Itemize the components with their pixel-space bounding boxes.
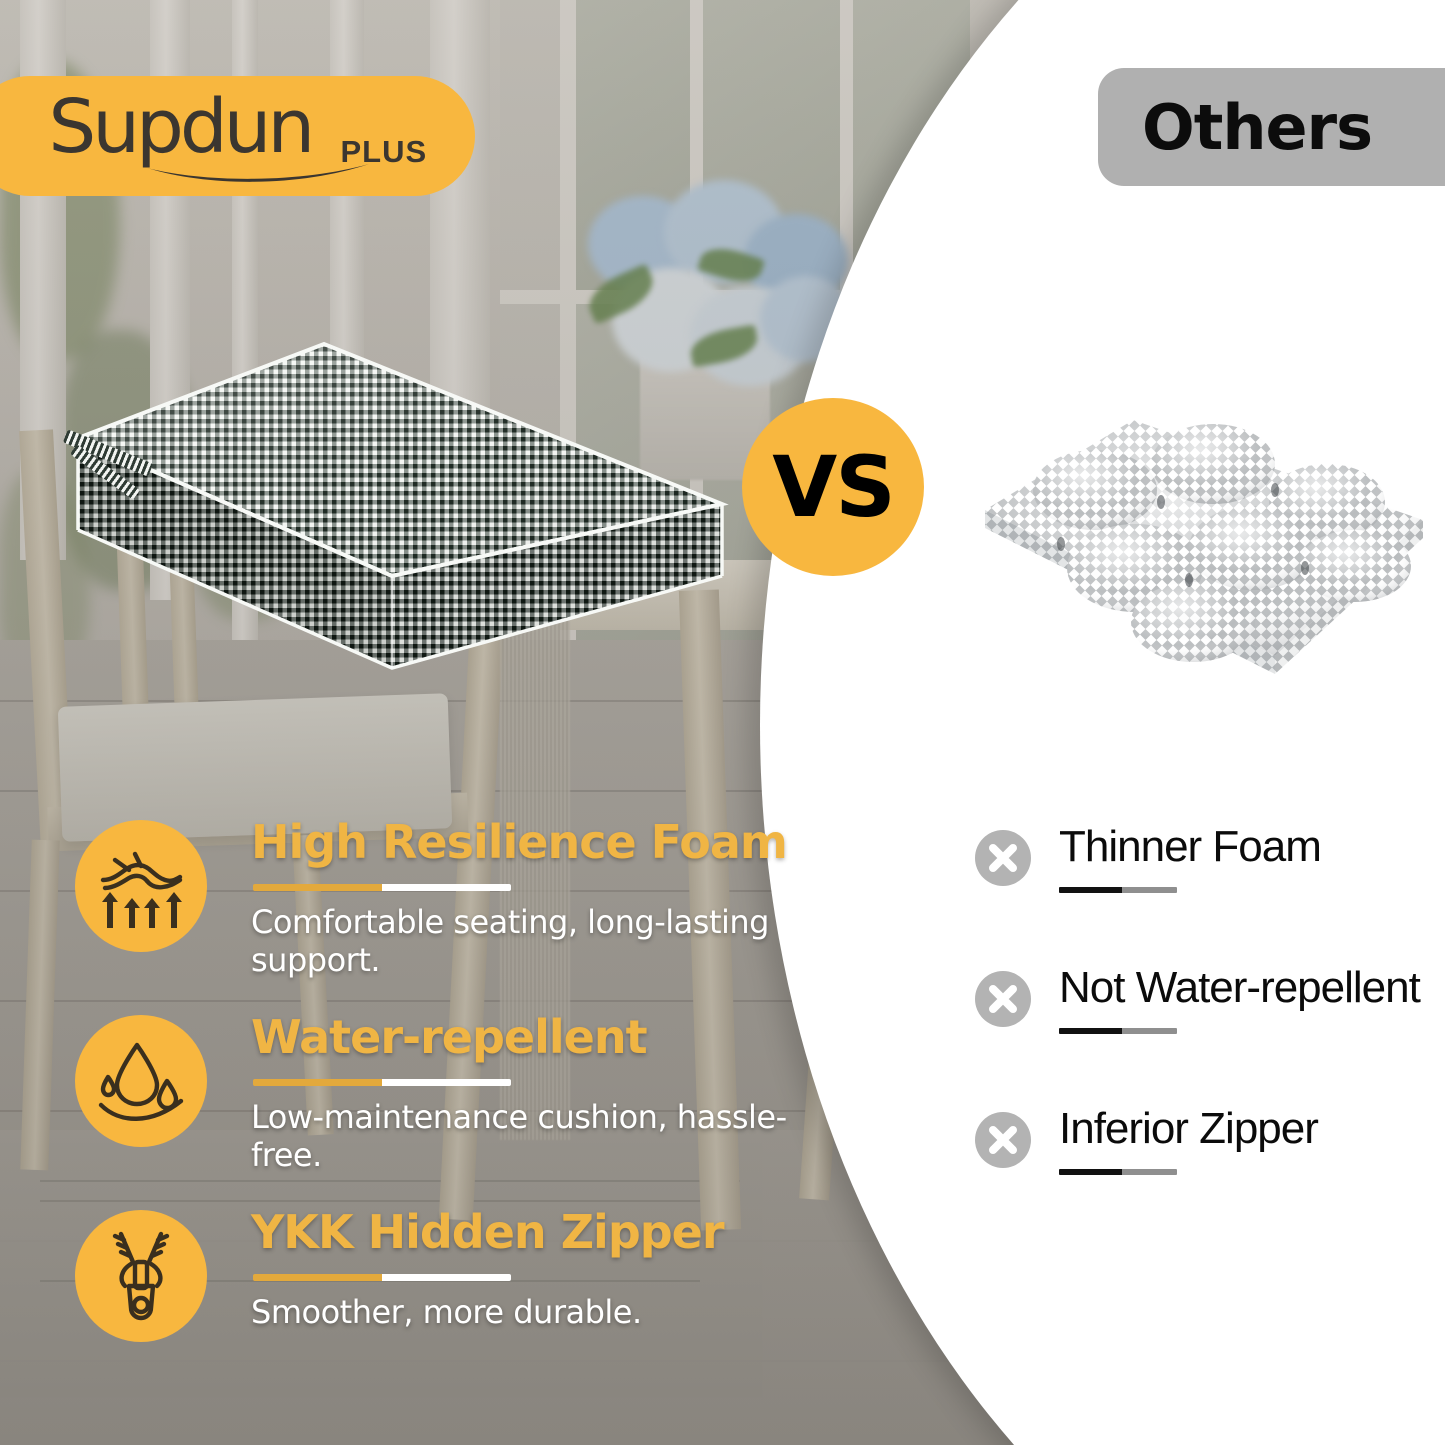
feature-description: Low-maintenance cushion, hassle-free.	[251, 1098, 811, 1174]
con-title: Thinner Foam	[1059, 822, 1439, 872]
others-banner: Others	[1098, 68, 1445, 186]
circle-x-icon	[975, 971, 1031, 1027]
product-cushion-image	[62, 338, 752, 678]
con-title: Inferior Zipper	[1059, 1104, 1439, 1154]
vs-label: VS	[772, 438, 894, 536]
feature-description: Comfortable seating, long-lasting suppor…	[251, 903, 811, 979]
feature-title: Water-repellent	[251, 1013, 811, 1063]
pros-feature-list: High Resilience Foam Comfortable seating…	[75, 818, 805, 1403]
con-title: Not Water-repellent	[1059, 963, 1439, 1013]
feature-rule	[253, 1274, 511, 1281]
brand-wordmark: Supdun	[48, 84, 311, 170]
feature-item: YKK Hidden Zipper Smoother, more durable…	[75, 1208, 805, 1403]
con-item: Not Water-repellent	[975, 963, 1435, 1104]
feature-description: Smoother, more durable.	[251, 1293, 811, 1331]
con-item: Thinner Foam	[975, 822, 1435, 963]
water-droplet-repel-icon	[75, 1015, 207, 1147]
con-rule	[1059, 1169, 1177, 1175]
circle-x-icon	[975, 830, 1031, 886]
con-rule	[1059, 887, 1177, 893]
competitor-cushion-image	[975, 398, 1440, 688]
feature-title: YKK Hidden Zipper	[251, 1208, 811, 1258]
feature-rule	[253, 884, 511, 891]
feature-title: High Resilience Foam	[251, 818, 811, 868]
con-item: Inferior Zipper	[975, 1104, 1435, 1245]
product-comparison-infographic: Supdun PLUS Others	[0, 0, 1445, 1445]
hand-support-arrows-icon	[75, 820, 207, 952]
cons-list: Thinner Foam Not Water-repellent	[975, 822, 1435, 1245]
zipper-icon	[75, 1210, 207, 1342]
feature-item: High Resilience Foam Comfortable seating…	[75, 818, 805, 1013]
feature-item: Water-repellent Low-maintenance cushion,…	[75, 1013, 805, 1208]
vs-badge: VS	[742, 398, 924, 576]
feature-rule	[253, 1079, 511, 1086]
brand-swoosh-icon	[143, 160, 373, 190]
con-rule	[1059, 1028, 1177, 1034]
circle-x-icon	[975, 1112, 1031, 1168]
others-label: Others	[1142, 91, 1372, 164]
brand-logo-badge: Supdun PLUS	[0, 76, 475, 196]
